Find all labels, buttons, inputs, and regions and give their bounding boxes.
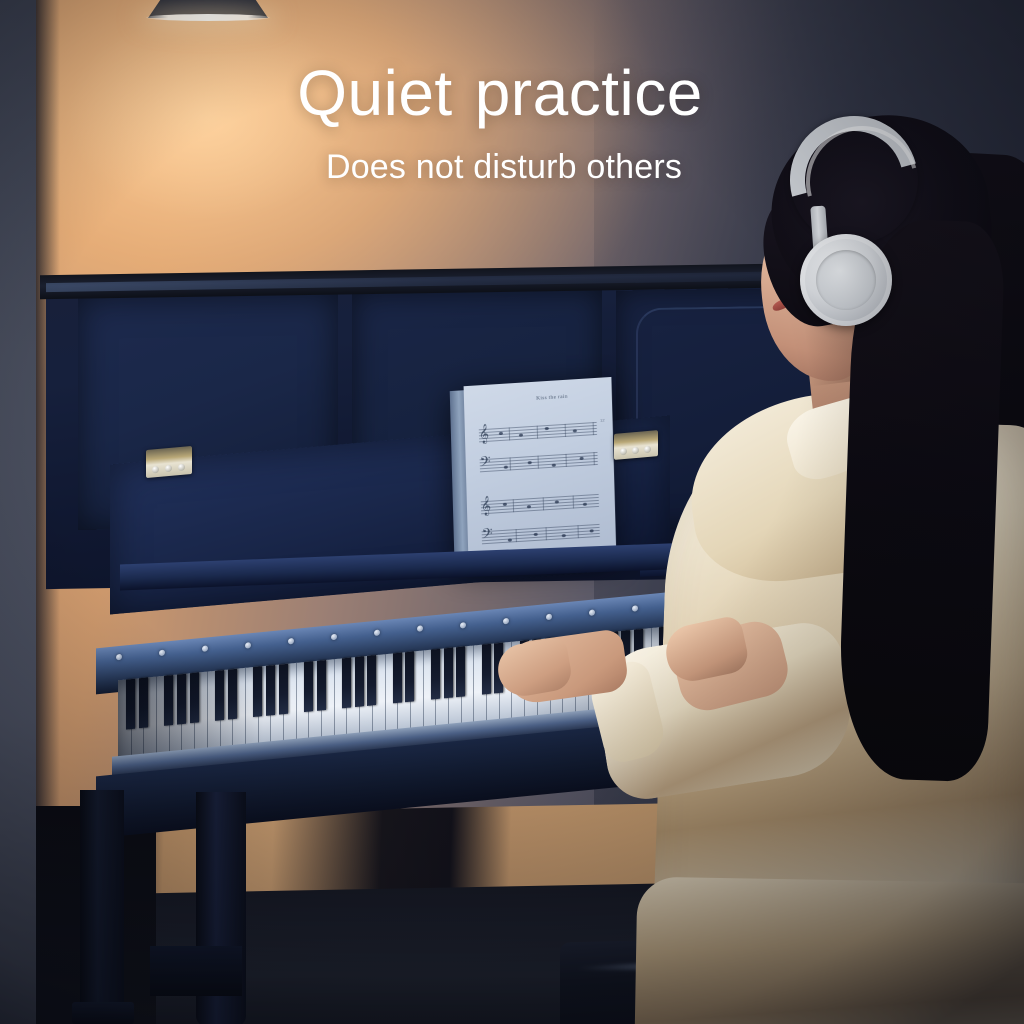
headline-word-1: Quiet [297, 57, 452, 129]
page-subtitle: Does not disturb others [0, 148, 1024, 187]
headline-word-2: practice [475, 57, 703, 129]
product-lifestyle-image: Kiss the rain 12 𝄞 𝄢 𝄞 [0, 0, 1024, 1024]
page-title: Quietpractice [0, 56, 1024, 130]
